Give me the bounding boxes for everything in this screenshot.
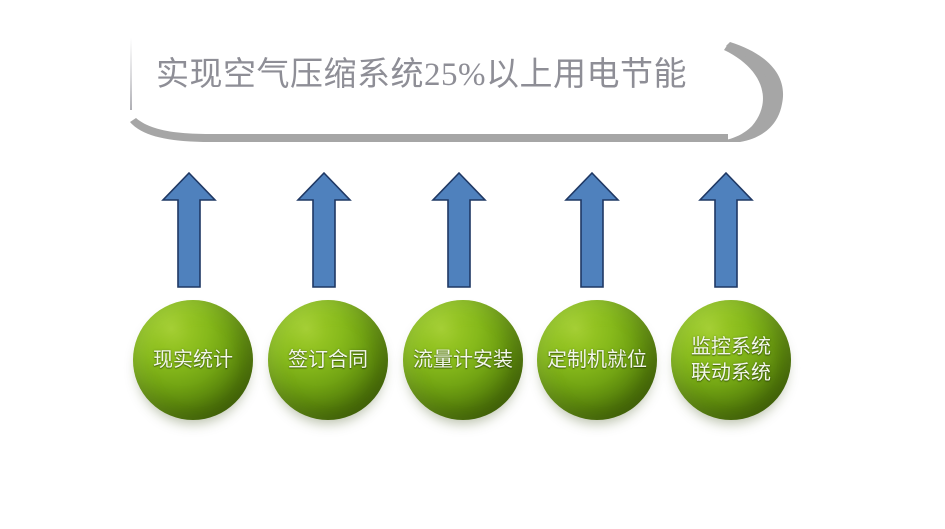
process-step-node-3[interactable]: 流量计安装 (403, 300, 523, 420)
step-label-line: 签订合同 (288, 348, 368, 373)
process-step-node-5[interactable]: 监控系统 联动系统 (671, 300, 791, 420)
process-step-label-4: 定制机就位 (547, 348, 647, 373)
process-step-label-5: 监控系统 联动系统 (691, 334, 771, 386)
step-label-line: 监控系统 (691, 334, 771, 360)
process-step-label-2: 签订合同 (288, 348, 368, 373)
step-label-line: 联动系统 (691, 360, 771, 386)
up-arrow-icon-1 (160, 170, 218, 290)
step-label-line: 流量计安装 (413, 348, 513, 373)
process-step-label-3: 流量计安装 (413, 348, 513, 373)
step-label-line: 现实统计 (153, 348, 233, 373)
step-label-line: 定制机就位 (547, 348, 647, 373)
process-step-node-4[interactable]: 定制机就位 (537, 300, 657, 420)
process-step-node-1[interactable]: 现实统计 (133, 300, 253, 420)
title-banner: 实现空气压缩系统25%以上用电节能 (128, 38, 788, 140)
presentation-slide: 实现空气压缩系统25%以上用电节能 现实统计 签订合同 流量计安装 定制机就位 (0, 0, 945, 529)
process-step-label-1: 现实统计 (153, 348, 233, 373)
page-title: 实现空气压缩系统25%以上用电节能 (156, 52, 756, 98)
process-step-node-2[interactable]: 签订合同 (268, 300, 388, 420)
up-arrow-icon-4 (563, 170, 621, 290)
up-arrow-icon-5 (697, 170, 755, 290)
up-arrow-icon-3 (430, 170, 488, 290)
up-arrow-icon-2 (295, 170, 353, 290)
